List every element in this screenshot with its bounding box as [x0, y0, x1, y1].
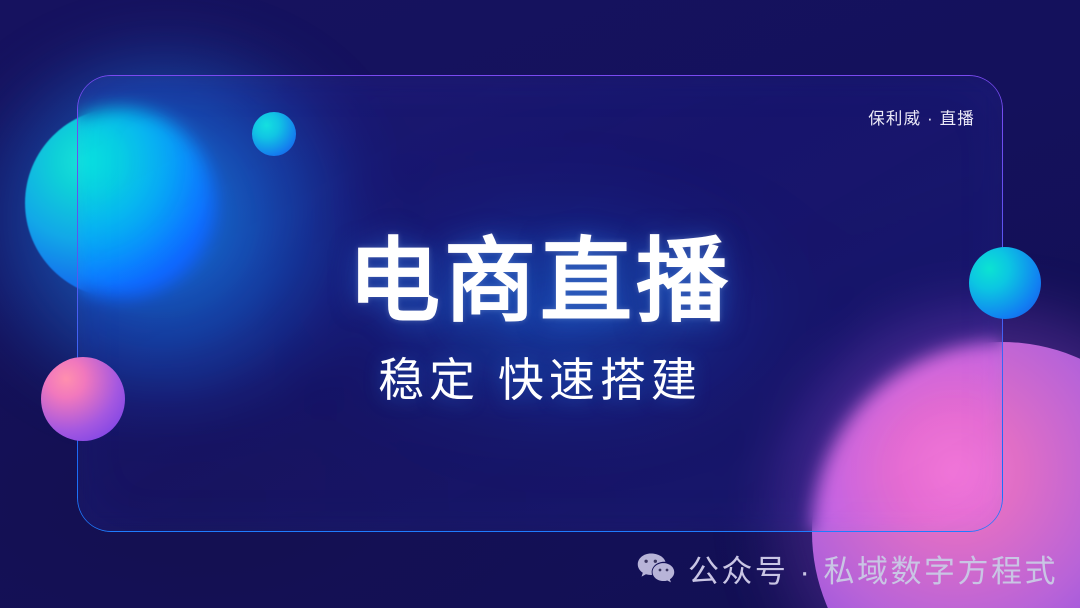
brand-tag: 保利威 · 直播: [868, 105, 975, 129]
glass-card-frame: [77, 75, 1003, 532]
decor-sphere-cyan-small: [252, 112, 296, 156]
wechat-icon: [637, 552, 675, 585]
decor-sphere-cyan-right: [969, 247, 1041, 319]
watermark-text: 公众号 · 私域数字方程式: [688, 546, 1058, 591]
decor-sphere-pink-small: [41, 357, 125, 441]
watermark: 公众号 · 私域数字方程式: [637, 546, 1058, 591]
promo-banner: 保利威 · 直播 电商直播 稳定 快速搭建 公众号 · 私域数字方程式: [0, 0, 1080, 608]
